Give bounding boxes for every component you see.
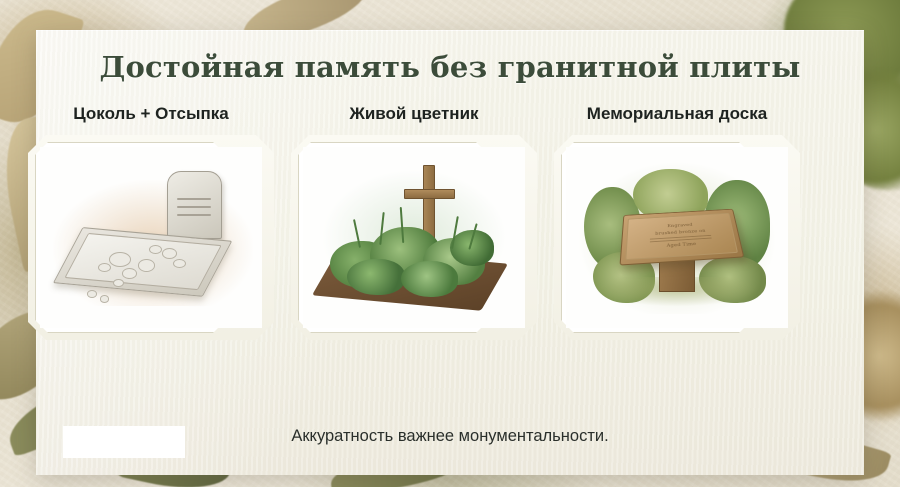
- flowerbed-cross-illustration: [303, 147, 525, 328]
- option-card-plaque[interactable]: Мемориальная доска Engraved brushed: [554, 104, 800, 359]
- plinth-gravel-illustration: [40, 147, 262, 328]
- option-title: Мемориальная доска: [587, 104, 767, 124]
- illustration-frame[interactable]: [291, 135, 537, 340]
- option-title: Живой цветник: [349, 104, 478, 124]
- headstone-shape: [167, 171, 222, 240]
- illustration-frame[interactable]: Engraved brushed bronze on Aged Time: [554, 135, 800, 340]
- memorial-plaque-illustration: Engraved brushed bronze on Aged Time: [566, 147, 788, 328]
- cross-horizontal-icon: [404, 189, 455, 199]
- footer-caption: Аккуратность важнее монументальности.: [0, 427, 900, 446]
- plaque-face: Engraved brushed bronze on Aged Time: [625, 213, 738, 261]
- plant-clump-icon: [347, 259, 405, 295]
- plaque-line-1: Engraved: [667, 222, 693, 229]
- pebble-icon: [98, 263, 111, 272]
- option-card-plinth[interactable]: Цоколь + Отсыпка: [28, 104, 274, 359]
- page-title: Достойная память без гранитной плиты: [0, 50, 900, 84]
- pebble-icon: [149, 245, 162, 254]
- option-title: Цоколь + Отсыпка: [73, 104, 228, 124]
- illustration-frame[interactable]: [28, 135, 274, 340]
- options-row: Цоколь + Отсыпка: [28, 104, 800, 359]
- plant-clump-icon: [401, 261, 459, 297]
- slide-stage: Достойная память без гранитной плиты Цок…: [0, 0, 900, 487]
- bronze-plaque-shape: Engraved brushed bronze on Aged Time: [619, 208, 744, 265]
- plaque-line-3: Aged Time: [666, 241, 696, 248]
- option-card-flowerbed[interactable]: Живой цветник: [291, 104, 537, 359]
- pebble-icon: [109, 252, 131, 267]
